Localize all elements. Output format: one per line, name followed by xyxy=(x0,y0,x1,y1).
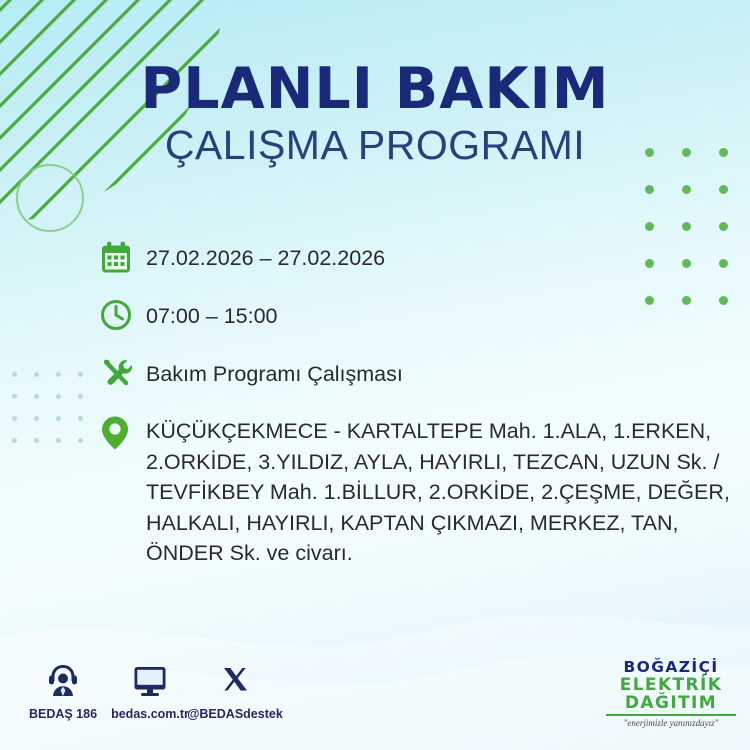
time-value: 07:00 – 15:00 xyxy=(146,294,278,332)
poster-header: PLANLI BAKIM ÇALIŞMA PROGRAMI xyxy=(0,60,750,167)
info-row-date: 27.02.2026 – 27.02.2026 xyxy=(100,236,740,278)
x-twitter-icon xyxy=(180,658,290,700)
logo-line-bogazici: BOĞAZİÇİ xyxy=(606,660,736,676)
poster-footer: BEDAŞ 186 bedas.com.tr @BEDASdestek xyxy=(0,656,750,742)
logo-tagline: "enerjimizle yanınızdayız" xyxy=(606,719,736,728)
info-row-time: 07:00 – 15:00 xyxy=(100,294,740,336)
logo-line-elektrik: ELEKTRİK xyxy=(606,677,736,694)
date-value: 27.02.2026 – 27.02.2026 xyxy=(146,236,385,274)
location-pin-icon xyxy=(100,412,146,454)
logo-line-dagitim: DAĞITIM xyxy=(606,695,736,716)
bedas-logo: BOĞAZİÇİ ELEKTRİK DAĞITIM "enerjimizle y… xyxy=(606,660,736,728)
page-subtitle: ÇALIŞMA PROGRAMI xyxy=(0,124,750,167)
page-title: PLANLI BAKIM xyxy=(0,60,750,118)
calendar-icon xyxy=(100,236,146,278)
info-row-work-type: Bakım Programı Çalışması xyxy=(100,352,740,394)
info-row-address: KÜÇÜKÇEKMECE - KARTALTEPE Mah. 1.ALA, 1.… xyxy=(100,412,740,569)
tools-icon xyxy=(100,352,146,394)
circle-outline-decoration xyxy=(16,164,84,232)
clock-icon xyxy=(100,294,146,336)
address-value: KÜÇÜKÇEKMECE - KARTALTEPE Mah. 1.ALA, 1.… xyxy=(146,412,740,569)
contact-x-account[interactable]: @BEDASdestek xyxy=(180,658,290,721)
work-type-value: Bakım Programı Çalışması xyxy=(146,352,403,390)
dot-grid-left-decoration xyxy=(12,372,100,460)
outage-info-list: 27.02.2026 – 27.02.2026 07:00 – 15:00 xyxy=(100,236,740,583)
planli-bakim-poster: PLANLI BAKIM ÇALIŞMA PROGRAMI 27.02.2026… xyxy=(0,0,750,750)
contact-x-label: @BEDASdestek xyxy=(180,707,290,721)
